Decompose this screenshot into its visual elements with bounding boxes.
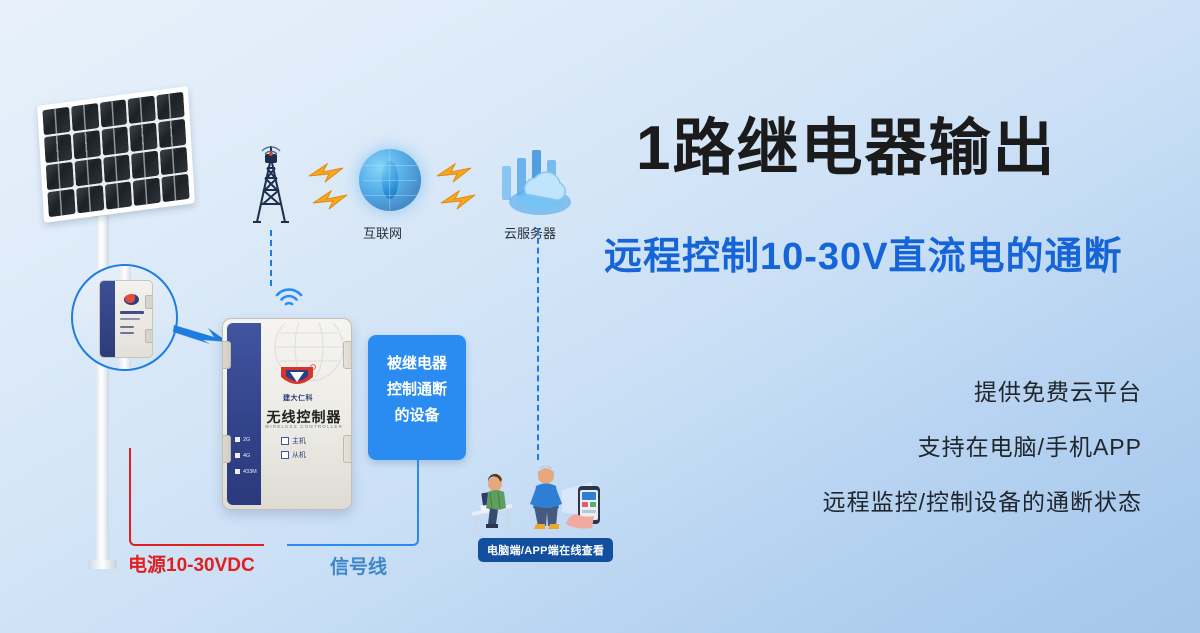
feature-item-3: 远程监控/控制设备的通断状态 <box>823 483 1142 517</box>
wifi-signal-icon <box>274 286 304 308</box>
signal-bolt-icon <box>312 190 348 210</box>
internet-globe-icon <box>359 149 421 211</box>
internet-label: 互联网 <box>363 223 402 242</box>
controlled-equipment-box: 被继电器 控制通断 的设备 <box>368 335 466 460</box>
device-brand-label: 建大仁科 <box>275 393 321 403</box>
infobox-line-1: 被继电器 <box>368 351 466 377</box>
feature-item-2: 支持在电脑/手机APP <box>918 428 1142 462</box>
cloud-server-icon <box>496 146 574 220</box>
brand-logo-icon <box>277 363 317 391</box>
mounting-pole <box>96 196 109 568</box>
signal-bolt-icon <box>440 190 476 210</box>
page-title: 1路继电器输出 <box>636 118 1056 180</box>
cloud-server-label: 云服务器 <box>504 223 556 242</box>
solar-panel-icon <box>37 86 195 223</box>
infobox-line-2: 控制通断 <box>368 377 466 403</box>
power-wire <box>129 448 264 546</box>
signal-bolt-icon <box>308 163 344 183</box>
users-illustration <box>466 462 612 538</box>
pole-base <box>88 560 117 569</box>
uplink-dashed-line <box>270 230 272 286</box>
signal-wire <box>287 448 419 546</box>
inset-device <box>99 280 153 358</box>
power-wire-label: 电源10-30VDC <box>128 550 255 577</box>
signal-bolt-icon <box>436 163 472 183</box>
downlink-dashed-line <box>537 228 539 460</box>
checkbox-master: 主机 <box>281 436 306 446</box>
mounting-ear <box>343 341 352 369</box>
infobox-line-3: 的设备 <box>368 403 466 429</box>
product-infographic: 建大仁科 无线控制器 WIRELESS CONTROLLER 主机 从机 2G … <box>0 0 1200 633</box>
led-2g: 2G <box>235 437 250 443</box>
device-subtitle-label: WIRELESS CONTROLLER <box>263 424 345 429</box>
online-view-badge: 电脑端/APP端在线查看 <box>478 538 613 562</box>
page-subtitle: 远程控制10-30V直流电的通断 <box>604 238 1123 276</box>
mounting-ear <box>222 341 231 369</box>
cell-tower-icon <box>248 146 294 224</box>
solar-cell-grid <box>42 92 189 218</box>
magnifier-inset <box>71 264 178 371</box>
feature-item-1: 提供免费云平台 <box>974 373 1142 407</box>
signal-wire-label: 信号线 <box>330 552 387 579</box>
